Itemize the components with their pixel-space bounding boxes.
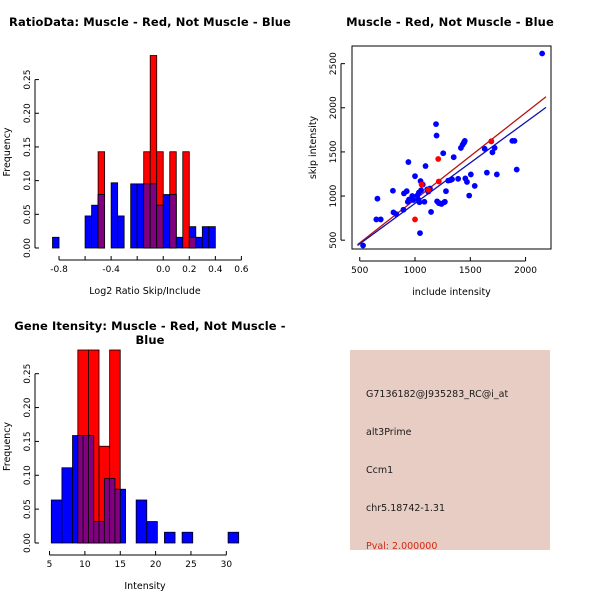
x-axis-label: Intensity	[124, 581, 166, 592]
scatter-point	[449, 176, 455, 182]
histogram-bar-blue	[111, 183, 118, 248]
x-tick-label: -0.8	[50, 265, 68, 275]
gene-histogram-plot: 510152025300.000.050.100.150.200.25Inten…	[0, 305, 300, 600]
scatter-point	[442, 199, 448, 205]
panel-ratio-histogram: RatioData: Muscle - Red, Not Muscle - Bl…	[0, 0, 300, 300]
scatter-point	[390, 188, 396, 194]
info-locus: chr5.18742-1.31	[366, 503, 445, 514]
scatter-point	[417, 199, 423, 205]
x-tick-label: 0.6	[234, 265, 249, 275]
histogram-bar-blue	[131, 184, 138, 248]
info-probe-id: G7136182@J935283_RC@i_at	[366, 389, 508, 400]
scatter-point	[393, 211, 399, 217]
scatter-point	[539, 51, 545, 57]
scatter-point	[405, 159, 411, 165]
histogram-bar-blue	[182, 532, 193, 543]
histogram-bar-blue	[164, 532, 175, 543]
histogram-bar-blue	[62, 468, 73, 543]
histogram-bar-overlap	[150, 184, 157, 248]
histogram-bar-overlap	[88, 436, 93, 543]
x-axis-label: include intensity	[412, 287, 491, 298]
x-tick-label: 20	[150, 560, 162, 570]
scatter-point	[466, 193, 472, 199]
info-event-type: alt3Prime	[366, 427, 411, 438]
y-axis-label: Frequency	[2, 422, 13, 471]
y-tick-label: 0.20	[23, 103, 33, 123]
scatter-point	[482, 146, 488, 152]
x-tick-label: 5	[47, 560, 53, 570]
scatter-point	[440, 150, 446, 156]
scatter-point	[455, 176, 461, 182]
y-tick-label: 2500	[329, 52, 339, 75]
scatter-point	[436, 179, 442, 185]
scatter-point	[468, 172, 474, 178]
scatter-plot: 5001000150020005001000150020002500includ…	[300, 0, 600, 300]
histogram-bar-overlap	[189, 237, 196, 248]
panel-gene-intensity-histogram: Gene Itensity: Muscle - Red, Not Muscle …	[0, 305, 300, 600]
ratio-histogram-plot: -0.8-0.40.00.20.40.60.000.050.100.150.20…	[0, 0, 300, 300]
x-tick-label: 2000	[514, 266, 537, 276]
gene-histogram-title: Gene Itensity: Muscle - Red, Not Muscle …	[0, 319, 300, 347]
x-tick-label: 1000	[404, 266, 427, 276]
scatter-point	[423, 163, 429, 169]
histogram-bar-blue	[136, 500, 147, 543]
scatter-point	[404, 188, 410, 194]
histogram-bar-blue	[147, 522, 158, 543]
x-tick-label: 0.0	[156, 265, 171, 275]
y-tick-label: 0.25	[23, 70, 33, 90]
histogram-bar-blue	[51, 500, 62, 543]
histogram-bar-overlap	[170, 195, 177, 248]
x-tick-label: 15	[115, 560, 126, 570]
y-tick-label: 500	[329, 231, 339, 248]
histogram-bar-overlap	[144, 184, 151, 248]
scatter-point	[443, 188, 449, 194]
y-axis-label: Frequency	[2, 127, 13, 176]
histogram-bar-overlap	[99, 522, 104, 543]
scatter-point	[412, 217, 418, 223]
y-tick-label: 0.05	[23, 204, 33, 224]
histogram-bar-overlap	[94, 522, 99, 543]
y-tick-label: 0.15	[23, 137, 33, 157]
scatter-point	[484, 170, 490, 176]
histogram-bar-overlap	[157, 205, 164, 248]
x-tick-label: 10	[79, 560, 91, 570]
ratio-histogram-title: RatioData: Muscle - Red, Not Muscle - Bl…	[0, 15, 300, 29]
scatter-point	[512, 138, 518, 144]
info-gene-symbol: Ccm1	[366, 465, 393, 476]
y-tick-label: 1000	[329, 184, 339, 207]
scatter-point	[410, 197, 416, 203]
histogram-bar-overlap	[98, 195, 105, 248]
y-tick-label: 0.05	[23, 499, 33, 519]
y-axis-label: skip intensity	[308, 115, 319, 179]
scatter-point	[492, 145, 498, 151]
scatter-point	[494, 172, 500, 178]
x-tick-label: -0.4	[102, 265, 120, 275]
histogram-bar-red	[183, 152, 190, 248]
scatter-point	[417, 230, 423, 236]
scatter-point	[360, 243, 366, 249]
x-tick-label: 25	[185, 560, 196, 570]
scatter-point	[462, 138, 468, 144]
scatter-point	[464, 179, 470, 185]
x-tick-label: 0.4	[208, 265, 223, 275]
histogram-bar-blue	[53, 237, 60, 248]
histogram-bar-overlap	[115, 489, 120, 543]
y-tick-label: 0.00	[23, 533, 33, 553]
scatter-point	[425, 187, 431, 193]
probe-info-panel: G7136182@J935283_RC@i_at alt3Prime Ccm1 …	[350, 350, 550, 550]
scatter-point	[401, 207, 407, 213]
scatter-point	[472, 183, 478, 189]
scatter-point	[434, 133, 440, 139]
scatter-point	[378, 217, 384, 223]
scatter-point	[419, 182, 425, 188]
scatter-point	[375, 196, 381, 202]
scatter-point	[488, 138, 494, 144]
scatter-point	[422, 199, 428, 205]
scatter-point	[435, 156, 441, 162]
histogram-bar-overlap	[104, 479, 109, 543]
histogram-bar-blue	[137, 184, 144, 248]
y-tick-label: 0.25	[23, 364, 33, 384]
y-tick-label: 0.20	[23, 397, 33, 417]
x-tick-label: 30	[221, 560, 233, 570]
scatter-point	[418, 187, 424, 193]
y-tick-label: 0.10	[23, 465, 33, 485]
histogram-bar-blue	[176, 237, 183, 248]
histogram-bar-blue	[85, 216, 92, 248]
scatter-point	[428, 209, 434, 215]
histogram-bar-overlap	[78, 436, 83, 543]
scatter-point	[514, 167, 520, 173]
histogram-bar-blue	[118, 216, 125, 248]
scatter-point	[412, 173, 418, 179]
y-tick-label: 1500	[329, 140, 339, 163]
x-tick-label: 500	[351, 266, 368, 276]
histogram-bar-blue	[202, 227, 209, 248]
scatter-title: Muscle - Red, Not Muscle - Blue	[300, 15, 600, 29]
scatter-point	[451, 154, 457, 160]
histogram-bar-overlap	[83, 436, 88, 543]
info-pval: Pval: 2.000000	[366, 541, 437, 552]
x-axis-label: Log2 Ratio Skip/Include	[89, 286, 201, 297]
scatter-point	[433, 121, 439, 127]
y-tick-label: 0.10	[23, 170, 33, 190]
histogram-bar-blue	[163, 195, 170, 248]
y-tick-label: 0.00	[23, 238, 33, 258]
panel-intensity-scatter: Muscle - Red, Not Muscle - Blue 50010001…	[300, 0, 600, 300]
x-tick-label: 0.2	[182, 265, 196, 275]
histogram-bar-blue	[209, 227, 216, 248]
histogram-bar-blue	[196, 237, 203, 248]
histogram-bar-overlap	[110, 479, 115, 543]
histogram-bar-blue	[92, 205, 99, 248]
y-tick-label: 0.15	[23, 431, 33, 451]
y-tick-label: 2000	[329, 96, 339, 119]
x-tick-label: 1500	[459, 266, 482, 276]
histogram-bar-blue	[228, 532, 239, 543]
